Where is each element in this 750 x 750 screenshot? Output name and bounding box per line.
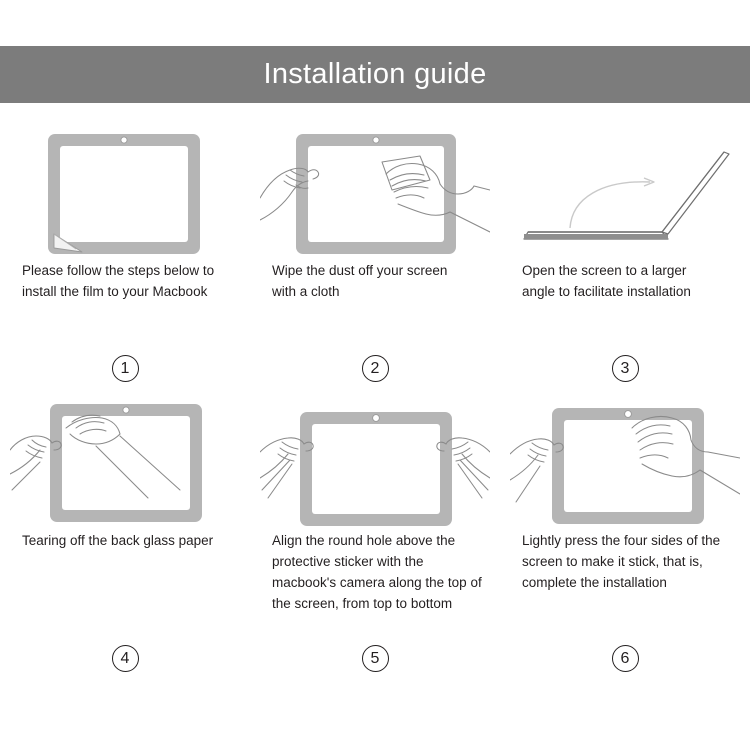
step-caption-6: Lightly press the four sides of the scre… bbox=[522, 530, 732, 593]
step-number-4: 4 bbox=[112, 645, 139, 672]
step-item-6: Lightly press the four sides of the scre… bbox=[500, 398, 750, 688]
step-item-2: Wipe the dust off your screen with a clo… bbox=[250, 128, 500, 398]
steps-row-top: Please follow the steps below to install… bbox=[0, 128, 750, 398]
step-caption-5: Align the round hole above the protectiv… bbox=[272, 530, 482, 614]
two-hands-aligning-film-icon bbox=[260, 398, 490, 530]
step-number-1: 1 bbox=[112, 355, 139, 382]
page-title: Installation guide bbox=[263, 60, 486, 89]
step-caption-2: Wipe the dust off your screen with a clo… bbox=[272, 260, 472, 302]
step-caption-4: Tearing off the back glass paper bbox=[22, 530, 222, 551]
step-number-2: 2 bbox=[362, 355, 389, 382]
step-number-6: 6 bbox=[612, 645, 639, 672]
page-header-band: Installation guide bbox=[0, 46, 750, 103]
step-item-1: Please follow the steps below to install… bbox=[0, 128, 250, 398]
step-caption-3: Open the screen to a larger angle to fac… bbox=[522, 260, 722, 302]
tablet-screen-with-peeling-film-icon bbox=[10, 128, 240, 260]
laptop-open-angle-icon bbox=[510, 128, 740, 260]
installation-steps-grid: Please follow the steps below to install… bbox=[0, 128, 750, 688]
step-item-4: Tearing off the back glass paper 4 bbox=[0, 398, 250, 688]
steps-row-bottom: Tearing off the back glass paper 4 bbox=[0, 398, 750, 688]
hands-tearing-back-paper-icon bbox=[10, 398, 240, 530]
hands-wiping-screen-with-cloth-icon bbox=[260, 128, 490, 260]
step-number-5: 5 bbox=[362, 645, 389, 672]
step-item-5: Align the round hole above the protectiv… bbox=[250, 398, 500, 688]
step-number-3: 3 bbox=[612, 355, 639, 382]
step-caption-1: Please follow the steps below to install… bbox=[22, 260, 222, 302]
hand-pressing-film-icon bbox=[510, 398, 740, 530]
step-item-3: Open the screen to a larger angle to fac… bbox=[500, 128, 750, 398]
